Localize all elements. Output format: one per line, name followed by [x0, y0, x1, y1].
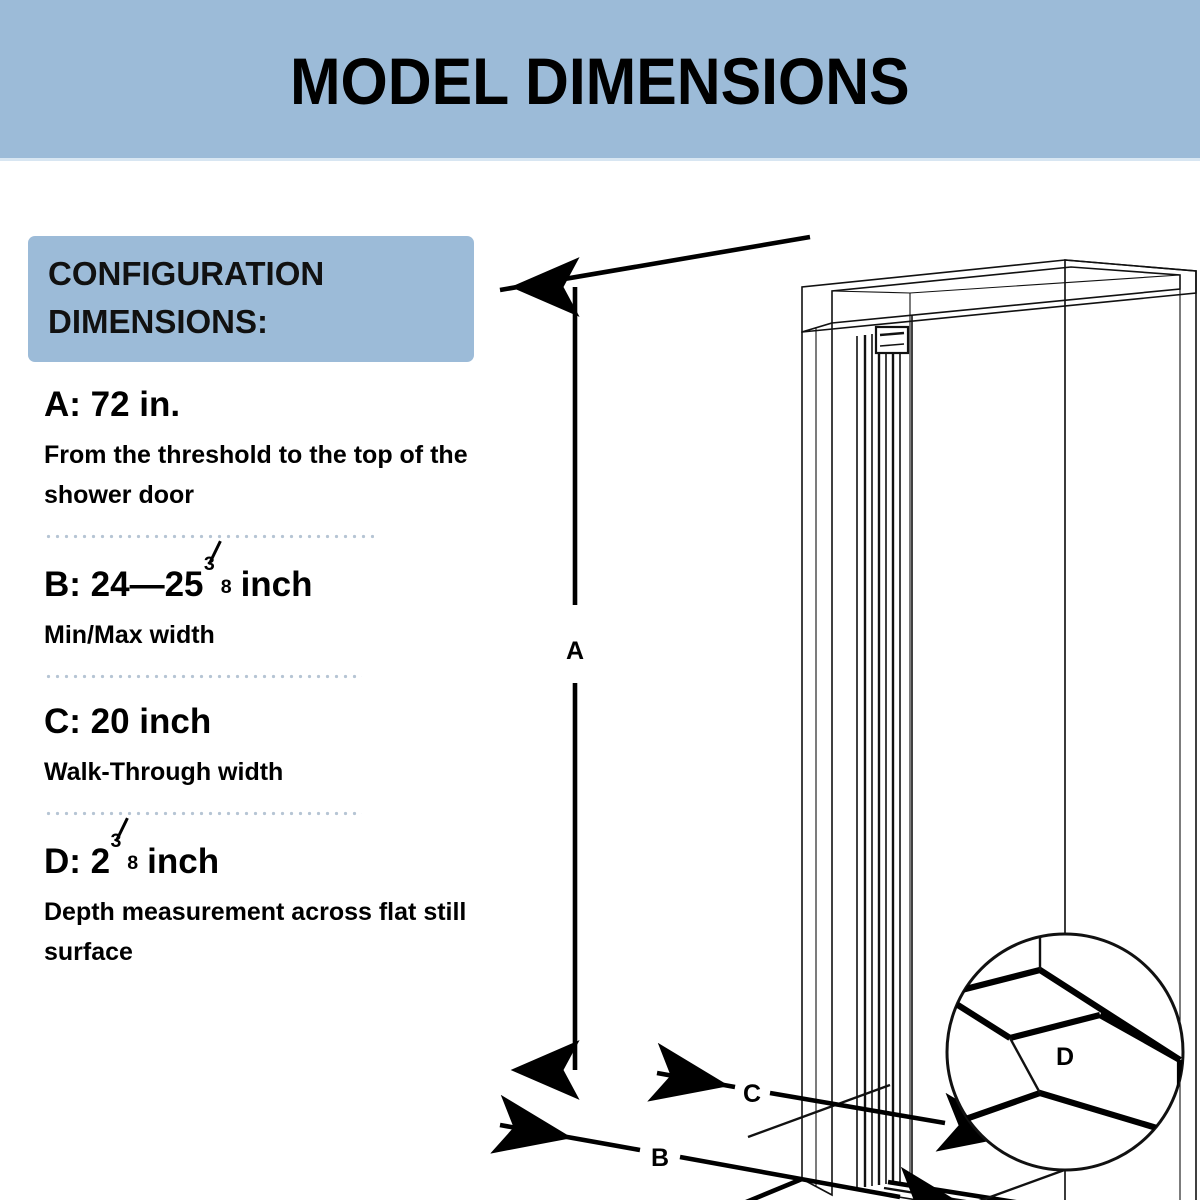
dimension-b-fraction: 38	[204, 561, 231, 596]
dimension-d-fraction-denominator: 8	[127, 854, 138, 874]
top-rim-back-edge	[832, 275, 1180, 293]
dimension-a-upper-leader	[500, 237, 810, 290]
hinge-stile-profile	[857, 331, 900, 1188]
dimension-b-title: B: 24—2538 inch	[44, 561, 548, 605]
dimension-c-title: C: 20 inch	[44, 701, 548, 742]
detail-d-label: D	[1056, 1043, 1074, 1071]
dimension-entry-b: B: 24—2538 inch Min/Max width	[44, 561, 548, 656]
dimension-b-description: Min/Max width	[44, 615, 544, 656]
configuration-heading-line-2: DIMENSIONS:	[48, 298, 454, 346]
header-band: MODEL DIMENSIONS	[0, 0, 1200, 158]
dimension-b-arrow-left	[500, 1125, 640, 1150]
separator-c-d	[44, 811, 362, 816]
dimension-entry-d: D: 238 inch Depth measurement across fla…	[44, 838, 548, 973]
page-title: MODEL DIMENSIONS	[290, 48, 910, 114]
dimension-entry-c: C: 20 inch Walk-Through width	[44, 701, 548, 793]
dimension-b-unit: inch	[241, 565, 313, 604]
separator-b-c	[44, 674, 362, 679]
dimension-list: A: 72 in. From the threshold to the top …	[28, 384, 548, 973]
dimension-a-title: A: 72 in.	[44, 384, 548, 425]
dimension-a-label: A	[566, 637, 584, 665]
dimension-d-fraction: 38	[110, 838, 137, 873]
separator-a-b	[44, 534, 374, 539]
base-threshold	[630, 1179, 1200, 1200]
top-hinge-block	[876, 327, 908, 353]
dimension-c-label: C	[743, 1080, 761, 1108]
dimension-b-label: B	[651, 1144, 669, 1172]
dimension-d-title: D: 238 inch	[44, 838, 548, 882]
dimension-arrow-b: B	[500, 1125, 900, 1197]
dimension-c-description: Walk-Through width	[44, 752, 544, 793]
base-front-left-edge	[630, 1179, 802, 1200]
dimension-a-description: From the threshold to the top of the sho…	[44, 435, 544, 516]
left-side-panel	[802, 323, 832, 1195]
dimension-a-description-line1: From the threshold to the top of	[44, 441, 423, 469]
dimension-b-arrow-right	[680, 1157, 900, 1197]
configuration-heading-box: CONFIGURATION DIMENSIONS:	[28, 236, 474, 362]
dimension-d-description: Depth measurement across flat still surf…	[44, 892, 544, 973]
top-rim-outer	[802, 260, 1196, 332]
dimension-d-value: D: 2	[44, 842, 110, 881]
dimension-c-arrow-left	[657, 1073, 735, 1087]
detail-callout-d: D	[875, 915, 1183, 1170]
dimension-b-value: B: 24—25	[44, 565, 204, 604]
dimension-b-fraction-denominator: 8	[221, 578, 232, 598]
dimension-arrow-a: A	[500, 237, 810, 1070]
dimension-d-unit: inch	[147, 842, 219, 881]
configuration-heading-line-1: CONFIGURATION	[48, 250, 454, 298]
dimension-entry-a: A: 72 in. From the threshold to the top …	[44, 384, 548, 516]
header-underline-divider	[0, 158, 1200, 161]
configuration-panel: CONFIGURATION DIMENSIONS: A: 72 in. From…	[28, 236, 548, 973]
dimension-d-description-line1: Depth measurement across flat	[44, 898, 416, 926]
top-rim-inner	[832, 267, 1180, 323]
shower-door-diagram: A C B	[480, 175, 1200, 1200]
